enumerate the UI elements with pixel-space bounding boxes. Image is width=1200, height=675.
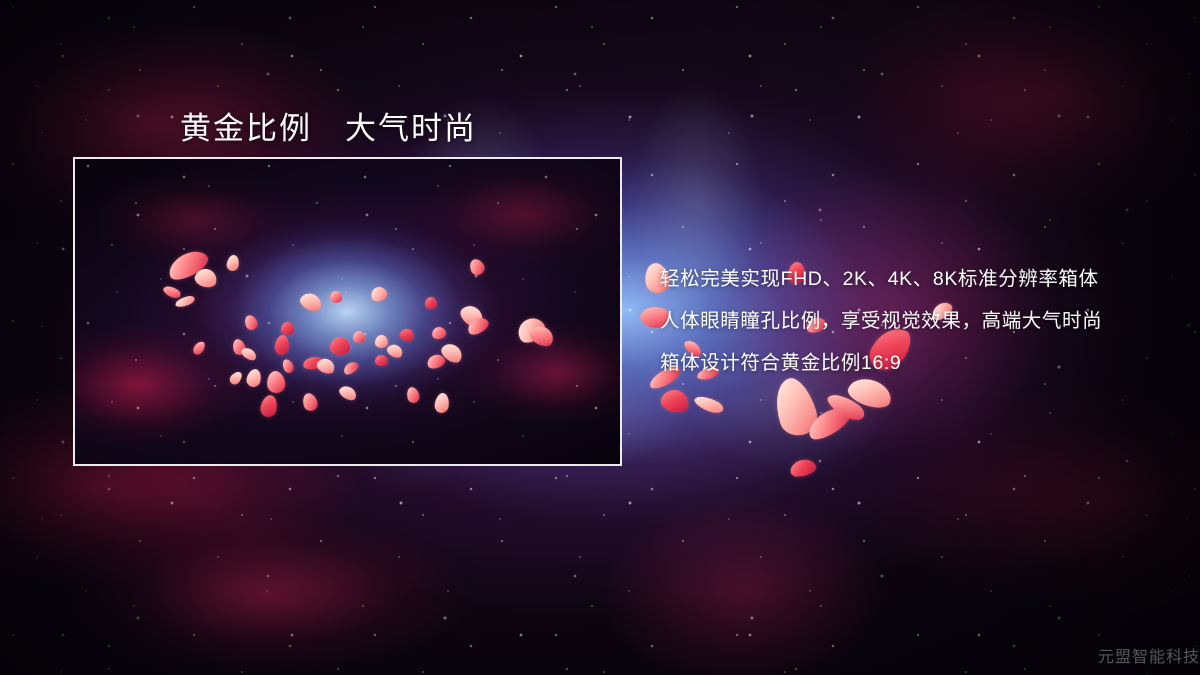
petal-shape [788, 457, 817, 479]
body-line: 箱体设计符合黄金比例16:9 [660, 342, 1180, 384]
page-title: 黄金比例 大气时尚 [180, 103, 477, 148]
body-line: 人体眼睛瞳孔比例，享受视觉效果，高端大气时尚 [660, 300, 1180, 342]
panel-starfield-bright-icon [73, 157, 622, 466]
petal-shape [804, 401, 855, 444]
body-copy: 轻松完美实现FHD、2K、4K、8K标准分辨率箱体 人体眼睛瞳孔比例，享受视觉效… [660, 258, 1180, 384]
petal-shape [825, 388, 868, 426]
watermark-label: 元盟智能科技 [1098, 643, 1200, 667]
image-frame-panel [73, 157, 622, 466]
petal-shape [693, 392, 726, 418]
slide-canvas: 黄金比例 大气时尚 轻松完美实现FHD、2K、4K、8K标准分辨率箱体 人体眼睛… [0, 0, 1200, 675]
petal-shape [659, 387, 691, 414]
body-line: 轻松完美实现FHD、2K、4K、8K标准分辨率箱体 [660, 258, 1180, 300]
